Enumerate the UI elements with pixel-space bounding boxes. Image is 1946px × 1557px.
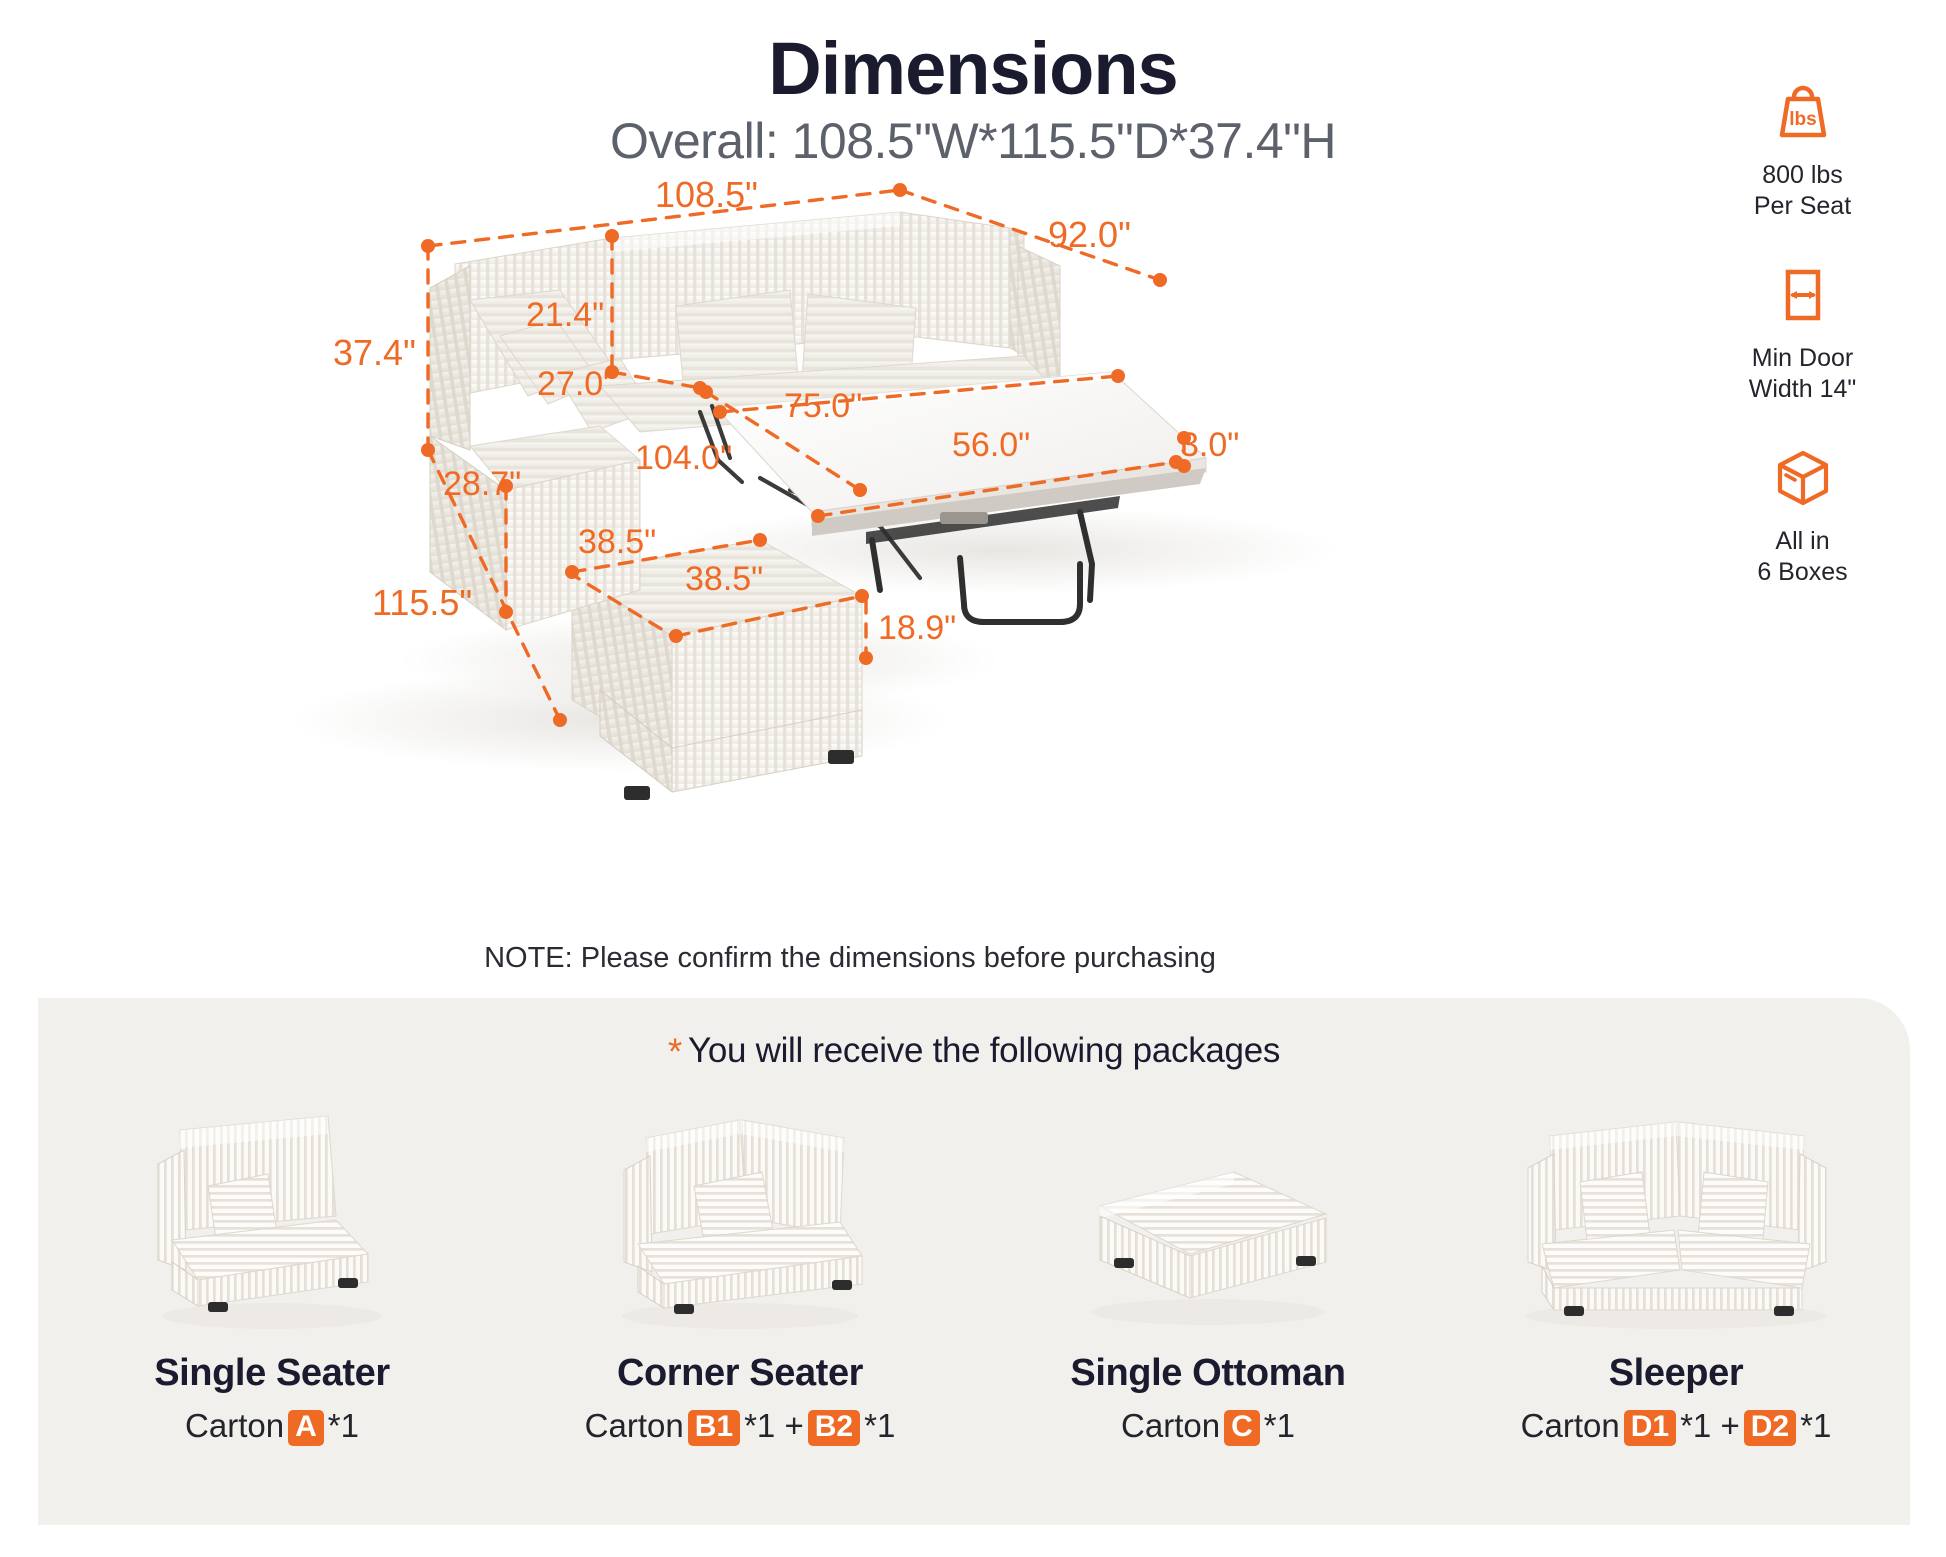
- feature-door-width: Min Door Width 14": [1715, 255, 1890, 404]
- feature-boxes-line1: All in: [1715, 526, 1890, 557]
- sleeper-image: [1466, 1086, 1886, 1334]
- carton-badge-c: C: [1224, 1410, 1260, 1446]
- package-sleeper[interactable]: Sleeper CartonD1*1 +D2*1: [1466, 1086, 1886, 1446]
- box-icon: [1715, 438, 1890, 518]
- package-corner-seater[interactable]: Corner Seater CartonB1*1 +B2*1: [530, 1086, 950, 1446]
- dim-ottoman-depth: 38.5": [685, 560, 763, 599]
- carton-qty-1: *1: [1680, 1407, 1711, 1444]
- package-carton: CartonC*1: [998, 1407, 1418, 1446]
- feature-door-line2: Width 14": [1715, 374, 1890, 405]
- dim-arm-height: 28.7": [443, 465, 521, 504]
- package-name: Single Seater: [62, 1352, 482, 1395]
- packages-heading-text: You will receive the following packages: [688, 1031, 1280, 1070]
- feature-door-line1: Min Door: [1715, 343, 1890, 374]
- single-seater-image: [62, 1086, 482, 1334]
- carton-prefix: Carton: [1121, 1407, 1220, 1444]
- feature-weight: lbs 800 lbs Per Seat: [1715, 72, 1890, 221]
- package-single-seater[interactable]: Single Seater CartonA*1: [62, 1086, 482, 1446]
- carton-prefix: Carton: [585, 1407, 684, 1444]
- package-name: Sleeper: [1466, 1352, 1886, 1395]
- feature-boxes-text: All in 6 Boxes: [1715, 526, 1890, 587]
- carton-badge-d1: D1: [1624, 1410, 1676, 1446]
- carton-qty-2: *1: [1800, 1407, 1831, 1444]
- dimension-diagram: 108.5" 92.0" 37.4" 21.4" 27.0" 75.0" 104…: [0, 160, 1700, 940]
- sofa-illustration: [0, 160, 1700, 940]
- package-name: Corner Seater: [530, 1352, 950, 1395]
- feature-rail: lbs 800 lbs Per Seat Min Door Width 14": [1715, 72, 1890, 621]
- carton-qty: *1: [328, 1407, 359, 1444]
- carton-qty: *1: [1264, 1407, 1295, 1444]
- package-carton: CartonB1*1 +B2*1: [530, 1407, 950, 1446]
- dim-bed-width: 56.0": [952, 426, 1030, 465]
- feature-boxes: All in 6 Boxes: [1715, 438, 1890, 587]
- package-carton: CartonD1*1 +D2*1: [1466, 1407, 1886, 1446]
- dim-seat-depth: 27.0": [537, 365, 615, 404]
- carton-qty-1: *1: [744, 1407, 775, 1444]
- dim-overall-depth: 115.5": [372, 582, 472, 624]
- package-name: Single Ottoman: [998, 1352, 1418, 1395]
- svg-text:lbs: lbs: [1789, 109, 1816, 130]
- dim-overall-height: 37.4": [333, 332, 416, 374]
- feature-weight-text: 800 lbs Per Seat: [1715, 160, 1890, 221]
- door-width-icon: [1715, 255, 1890, 335]
- carton-badge-a: A: [288, 1410, 324, 1446]
- dim-bed-length: 75.0": [784, 387, 862, 426]
- dim-overall-depth-right: 92.0": [1048, 214, 1131, 256]
- dim-ottoman-height: 18.9": [878, 609, 956, 648]
- carton-badge-b1: B1: [688, 1410, 740, 1446]
- carton-badge-b2: B2: [808, 1410, 860, 1446]
- dim-sofa-length: 104.0": [635, 439, 732, 478]
- carton-qty-2: *1: [864, 1407, 895, 1444]
- packages-panel: *You will receive the following packages: [38, 998, 1910, 1525]
- weight-tag-icon: lbs: [1715, 72, 1890, 152]
- dim-overall-width: 108.5": [655, 174, 758, 216]
- carton-prefix: Carton: [185, 1407, 284, 1444]
- feature-boxes-line2: 6 Boxes: [1715, 557, 1890, 588]
- dim-ottoman-width: 38.5": [578, 523, 656, 562]
- corner-seater-image: [530, 1086, 950, 1334]
- carton-prefix: Carton: [1521, 1407, 1620, 1444]
- page-title: Dimensions: [0, 26, 1946, 111]
- package-carton: CartonA*1: [62, 1407, 482, 1446]
- dim-mattress-thickness: 3.0": [1180, 426, 1239, 465]
- single-ottoman-image: [998, 1086, 1418, 1334]
- packages-grid: Single Seater CartonA*1: [38, 1086, 1910, 1446]
- feature-door-text: Min Door Width 14": [1715, 343, 1890, 404]
- carton-plus: +: [784, 1407, 803, 1444]
- feature-weight-line1: 800 lbs: [1715, 160, 1890, 191]
- carton-plus: +: [1720, 1407, 1739, 1444]
- dimension-note: NOTE: Please confirm the dimensions befo…: [0, 942, 1700, 975]
- carton-badge-d2: D2: [1744, 1410, 1796, 1446]
- infographic-page: Dimensions Overall: 108.5"W*115.5"D*37.4…: [0, 0, 1946, 1557]
- feature-weight-line2: Per Seat: [1715, 191, 1890, 222]
- packages-heading: *You will receive the following packages: [38, 998, 1910, 1073]
- dim-back-height: 21.4": [526, 296, 604, 335]
- package-single-ottoman[interactable]: Single Ottoman CartonC*1: [998, 1086, 1418, 1446]
- asterisk-icon: *: [668, 1031, 682, 1072]
